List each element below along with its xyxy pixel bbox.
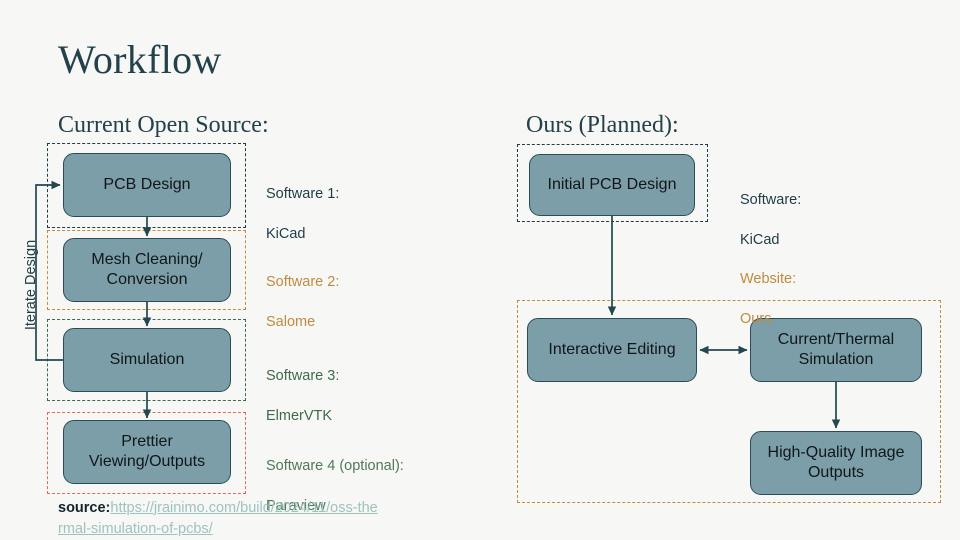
source-label: source:: [58, 500, 110, 516]
annotation-website-title: Website:: [740, 269, 796, 289]
source-footer: source:https://jrainimo.com/build/2024/1…: [58, 498, 378, 539]
node-prettier-viewing-outputs[interactable]: Prettier Viewing/Outputs: [63, 420, 231, 484]
annotation-software-1: Software 1: KiCad: [266, 164, 339, 264]
annotation-website: Website: Ours: [740, 249, 796, 349]
node-interactive-editing[interactable]: Interactive Editing: [527, 318, 697, 382]
node-mesh-cleaning-conversion[interactable]: Mesh Cleaning/ Conversion: [63, 238, 231, 302]
annotation-software-right-value: KiCad: [740, 230, 801, 250]
left-column-heading: Current Open Source:: [58, 112, 269, 139]
node-pcb-design[interactable]: PCB Design: [63, 153, 231, 217]
node-high-quality-image-outputs[interactable]: High-Quality Image Outputs: [750, 431, 922, 495]
iterate-design-label: Iterate Design: [23, 225, 39, 345]
annotation-software-1-title: Software 1:: [266, 184, 339, 204]
annotation-software-3-value: ElmerVTK: [266, 406, 339, 426]
annotation-software-2-value: Salome: [266, 312, 339, 332]
right-column-heading: Ours (Planned):: [526, 112, 679, 139]
annotation-software-right-title: Software:: [740, 190, 801, 210]
node-simulation[interactable]: Simulation: [63, 328, 231, 392]
annotation-software-3-title: Software 3:: [266, 366, 339, 386]
slide-canvas: Workflow Current Open Source: Ours (Plan…: [0, 0, 960, 540]
annotation-software-2: Software 2: Salome: [266, 252, 339, 352]
annotation-software-1-value: KiCad: [266, 224, 339, 244]
node-initial-pcb-design[interactable]: Initial PCB Design: [529, 154, 695, 216]
annotation-software-2-title: Software 2:: [266, 272, 339, 292]
annotation-website-value: Ours: [740, 309, 796, 329]
page-title: Workflow: [58, 36, 222, 83]
annotation-software-4-title: Software 4 (optional):: [266, 456, 404, 476]
annotation-software-3: Software 3: ElmerVTK: [266, 346, 339, 446]
